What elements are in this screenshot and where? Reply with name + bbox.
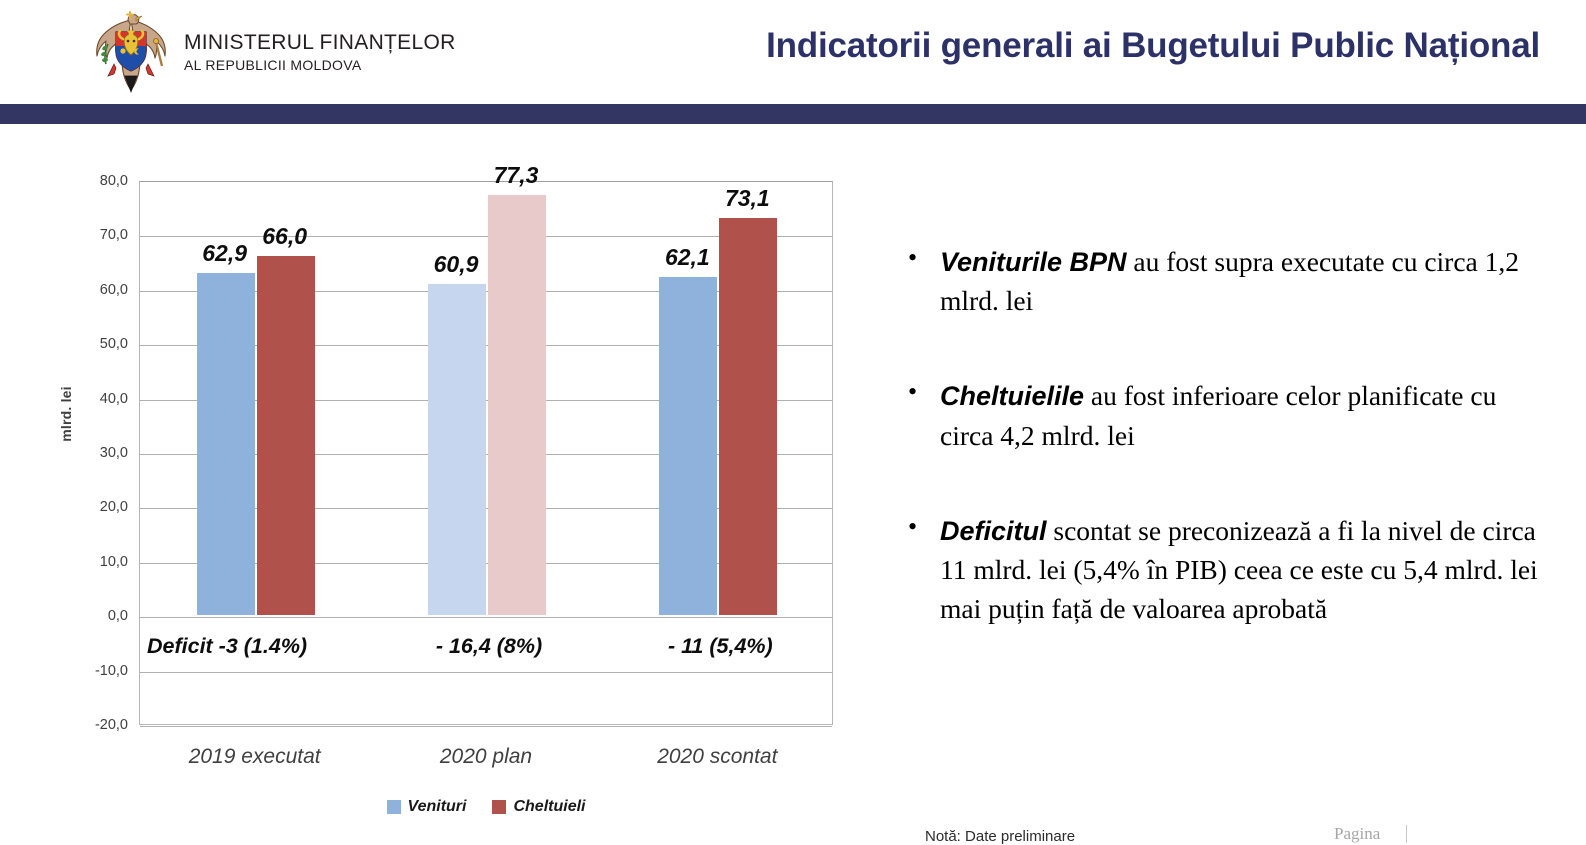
legend-item[interactable]: Cheltuieli <box>492 798 585 816</box>
y-axis-tick: 20,0 <box>54 499 128 515</box>
legend-label: Venituri <box>408 798 467 816</box>
y-axis-tick: 50,0 <box>54 336 128 352</box>
y-axis-tick-labels: 80,070,060,050,040,030,020,010,00,0-10,0… <box>54 168 128 724</box>
page-label: Pagina <box>1334 824 1380 844</box>
y-axis-tick: 0,0 <box>54 608 128 624</box>
ministry-name-primary: MINISTERUL FINANȚELOR <box>184 31 456 55</box>
list-item-lead: Deficitul <box>940 516 1047 546</box>
chart-bar <box>197 273 255 615</box>
ministry-name-secondary: AL REPUBLICII MOLDOVA <box>184 57 456 74</box>
chart-bar <box>659 277 717 615</box>
chart-bar <box>428 284 486 615</box>
chart-bar <box>719 218 777 616</box>
bpn-indicators-chart: mlrd. lei 80,070,060,050,040,030,020,010… <box>42 168 852 844</box>
x-axis-category-label: 2019 executat <box>139 745 370 769</box>
y-axis-tick: 40,0 <box>54 391 128 407</box>
bar-value-label: 77,3 <box>475 162 557 189</box>
bar-value-label: 73,1 <box>706 185 788 212</box>
page-divider <box>1406 825 1407 843</box>
y-axis-tick: 30,0 <box>54 445 128 461</box>
legend-color-swatch <box>492 800 506 814</box>
list-item-lead: Cheltuielile <box>940 381 1084 411</box>
legend-label: Cheltuieli <box>513 798 585 816</box>
legend-color-swatch <box>387 800 401 814</box>
chart-bar <box>257 256 315 615</box>
x-axis-category-label: 2020 plan <box>370 745 601 769</box>
y-axis-tick: 80,0 <box>54 173 128 189</box>
bar-value-label: 60,9 <box>415 251 497 278</box>
header-divider <box>0 104 1586 124</box>
key-findings-list: Veniturile BPN au fost supra executate c… <box>900 242 1540 628</box>
bar-value-label: 62,1 <box>646 244 728 271</box>
deficit-annotation: - 11 (5,4%) <box>610 634 831 659</box>
x-axis-category-label: 2020 scontat <box>602 745 833 769</box>
y-axis-tick: -20,0 <box>54 717 128 733</box>
moldova-coat-of-arms-icon <box>92 6 170 98</box>
gridline <box>140 726 832 727</box>
y-axis-tick: -10,0 <box>54 663 128 679</box>
chart-legend: VenituriCheltuieli <box>139 798 833 816</box>
y-axis-tick: 10,0 <box>54 554 128 570</box>
bar-value-label: 66,0 <box>244 223 326 250</box>
list-item: Cheltuielile au fost inferioare celor pl… <box>900 376 1540 454</box>
deficit-annotation: - 16,4 (8%) <box>378 634 599 659</box>
ministry-name-block: MINISTERUL FINANȚELOR AL REPUBLICII MOLD… <box>184 31 456 74</box>
page-indicator: Pagina <box>1334 824 1407 844</box>
slide-header: MINISTERUL FINANȚELOR AL REPUBLICII MOLD… <box>0 0 1586 104</box>
list-item: Deficitul scontat se preconizează a fi l… <box>900 511 1540 628</box>
list-item: Veniturile BPN au fost supra executate c… <box>900 242 1540 320</box>
deficit-annotation: Deficit -3 (1.4%) <box>147 634 368 659</box>
legend-item[interactable]: Venituri <box>387 798 467 816</box>
page-title: Indicatorii generali ai Bugetului Public… <box>766 26 1540 66</box>
ministry-branding: MINISTERUL FINANȚELOR AL REPUBLICII MOLD… <box>92 6 456 98</box>
y-axis-tick: 60,0 <box>54 282 128 298</box>
y-axis-tick: 70,0 <box>54 227 128 243</box>
list-item-lead: Veniturile BPN <box>940 247 1127 277</box>
footer-note: Notă: Date preliminare <box>925 828 1075 845</box>
